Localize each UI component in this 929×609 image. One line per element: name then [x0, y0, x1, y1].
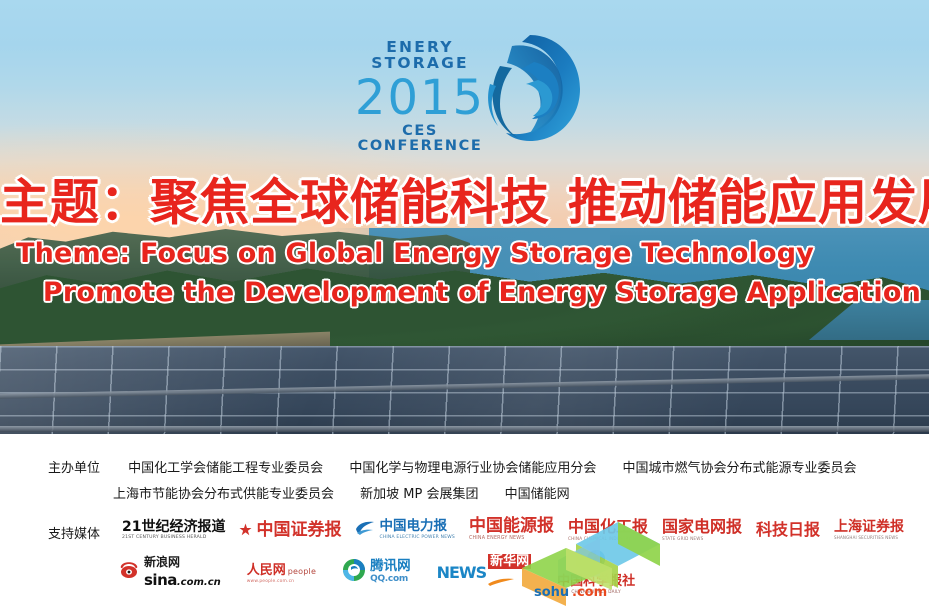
logo-year: 2015	[350, 73, 490, 123]
media-logo-cn: 21世纪经济报道	[122, 520, 225, 534]
media-logo-cn: 上海证券报	[834, 520, 904, 534]
media-logo-en: CHINA ELECTRIC POWER NEWS	[379, 536, 454, 541]
organizers-row-1: 主办单位 中国化工学会储能工程专业委员会 中国化学与物理电源行业协会储能应用分会…	[48, 457, 878, 476]
media-logo-cn: 新浪网	[144, 556, 221, 568]
sina-domain: .com.cn	[177, 577, 221, 588]
sina-eye-icon	[118, 560, 140, 584]
page-title-chinese: 主题：聚焦全球储能科技 推动储能应用发展	[0, 163, 929, 234]
organizers-label: 主办单位	[48, 461, 100, 476]
media-partners-label: 支持媒体	[48, 523, 100, 542]
media-logo-china-securities-journal: 中国证券报	[239, 513, 341, 547]
organizer-item: 中国城市燃气协会分布式能源专业委员会	[622, 461, 856, 476]
organizer-item: 中国化学与物理电源行业协会储能应用分会	[349, 461, 596, 476]
red-star-icon	[239, 521, 252, 540]
media-logo-en: 21ST CENTURY BUSINESS HERALD	[122, 536, 225, 541]
media-logo-row-1: 21世纪经济报道 21ST CENTURY BUSINESS HERALD 中国…	[122, 513, 904, 547]
event-logo-text: ENERY STORAGE 2015 CES CONFERENCE	[350, 40, 490, 153]
sohu-wordmark: sohu	[534, 585, 569, 600]
organizer-item: 中国储能网	[505, 487, 570, 502]
sohu-cube-logo-lower: sohu .com	[516, 546, 634, 608]
media-logo-cn: 科技日报	[756, 522, 820, 538]
organizers-row-2: 上海市节能协会分布式供能专业委员会 新加坡 MP 会展集团 中国储能网	[113, 483, 592, 502]
media-logo-cn: 中国证券报	[256, 522, 341, 539]
media-logo-tencent-qq: 腾讯网 QQ.com	[342, 554, 411, 590]
hero-photo: ENERY STORAGE 2015 CES CONFERENCE	[0, 0, 929, 434]
media-logo-en: SHANGHAI SECURITIES NEWS	[834, 536, 904, 540]
media-logo-sina: 新浪网 sina.com.cn	[118, 554, 221, 590]
media-logo-cn: 人民网	[247, 563, 286, 578]
logo-line-ces-conference: CES CONFERENCE	[350, 124, 490, 153]
media-logo-science-and-technology-daily: 科技日报	[756, 513, 820, 547]
event-logo: ENERY STORAGE 2015 CES CONFERENCE	[350, 32, 590, 144]
organizer-item: 中国化工学会储能工程专业委员会	[128, 461, 323, 476]
logo-line-enery-storage: ENERY STORAGE	[350, 40, 490, 71]
conference-banner: ENERY STORAGE 2015 CES CONFERENCE	[0, 0, 929, 609]
media-logo-people-cn: 人民网people www.people.com.cn	[247, 554, 316, 590]
media-logo-cn: 腾讯网	[370, 560, 411, 574]
power-swoosh-icon	[355, 520, 375, 540]
organizer-item: 新加坡 MP 会展集团	[360, 487, 478, 502]
media-logo-china-energy-news: 中国能源报 CHINA ENERGY NEWS	[469, 513, 554, 547]
footer-credits: 主办单位 中国化工学会储能工程专业委员会 中国化学与物理电源行业协会储能应用分会…	[0, 434, 929, 609]
panel-support-rail-lower	[0, 426, 929, 432]
media-logo-shanghai-securities-news: 上海证券报 SHANGHAI SECURITIES NEWS	[834, 513, 904, 547]
sina-wordmark: sina	[144, 571, 177, 589]
media-logo-china-electric-power-news: 中国电力报 CHINA ELECTRIC POWER NEWS	[355, 513, 454, 547]
media-logo-cn: 中国能源报	[469, 518, 554, 535]
media-logo-21st-century-business-herald: 21世纪经济报道 21ST CENTURY BUSINESS HERALD	[122, 513, 225, 547]
page-subtitle-english-line2: Promote the Development of Energy Storag…	[0, 277, 929, 308]
organizer-item: 上海市节能协会分布式供能专业委员会	[113, 487, 334, 502]
svg-text:.com: .com	[572, 585, 607, 600]
media-logo-en: CHINA ENERGY NEWS	[469, 537, 554, 542]
page-subtitle-english-line1: Theme: Focus on Global Energy Storage Te…	[0, 238, 929, 269]
media-logo-en: QQ.com	[370, 575, 411, 584]
xinhua-news-wordmark: NEWS	[437, 563, 487, 582]
people-suffix: people	[288, 567, 316, 576]
media-logo-en: www.people.com.cn	[247, 580, 316, 584]
swirl-wave-circle-icon	[476, 32, 586, 144]
media-logo-cn: 中国电力报	[379, 520, 454, 534]
tencent-circle-icon	[342, 558, 366, 586]
